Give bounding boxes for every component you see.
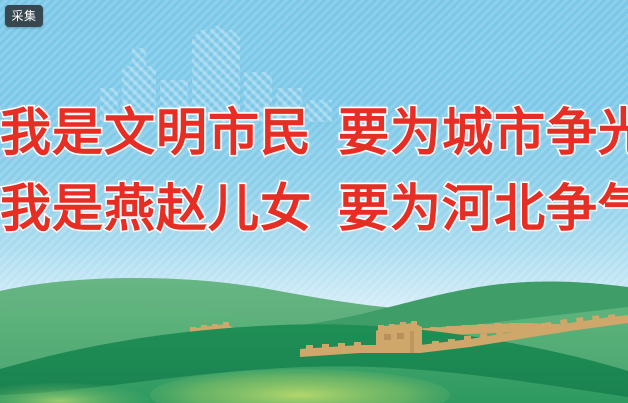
slogan-line-2: 我是燕赵儿女要为河北争气 xyxy=(0,172,628,248)
slogan-text-block: 我是文明市民要为城市争光 我是燕赵儿女要为河北争气 xyxy=(0,96,628,248)
hills-and-great-wall-scene xyxy=(0,273,628,403)
slogan-line-1-right: 要为城市争光 xyxy=(338,104,628,163)
slogan-line-2-right: 要为河北争气 xyxy=(338,180,628,239)
watchtower-right xyxy=(376,321,422,353)
banner-screenshot: 我是文明市民要为城市争光 我是燕赵儿女要为河北争气 采集 xyxy=(0,0,628,403)
slogan-line-1-left: 我是文明市民 xyxy=(0,104,312,163)
slogan-line-2-left: 我是燕赵儿女 xyxy=(0,180,312,239)
capture-button[interactable]: 采集 xyxy=(5,5,43,27)
slogan-line-1: 我是文明市民要为城市争光 xyxy=(0,96,628,172)
